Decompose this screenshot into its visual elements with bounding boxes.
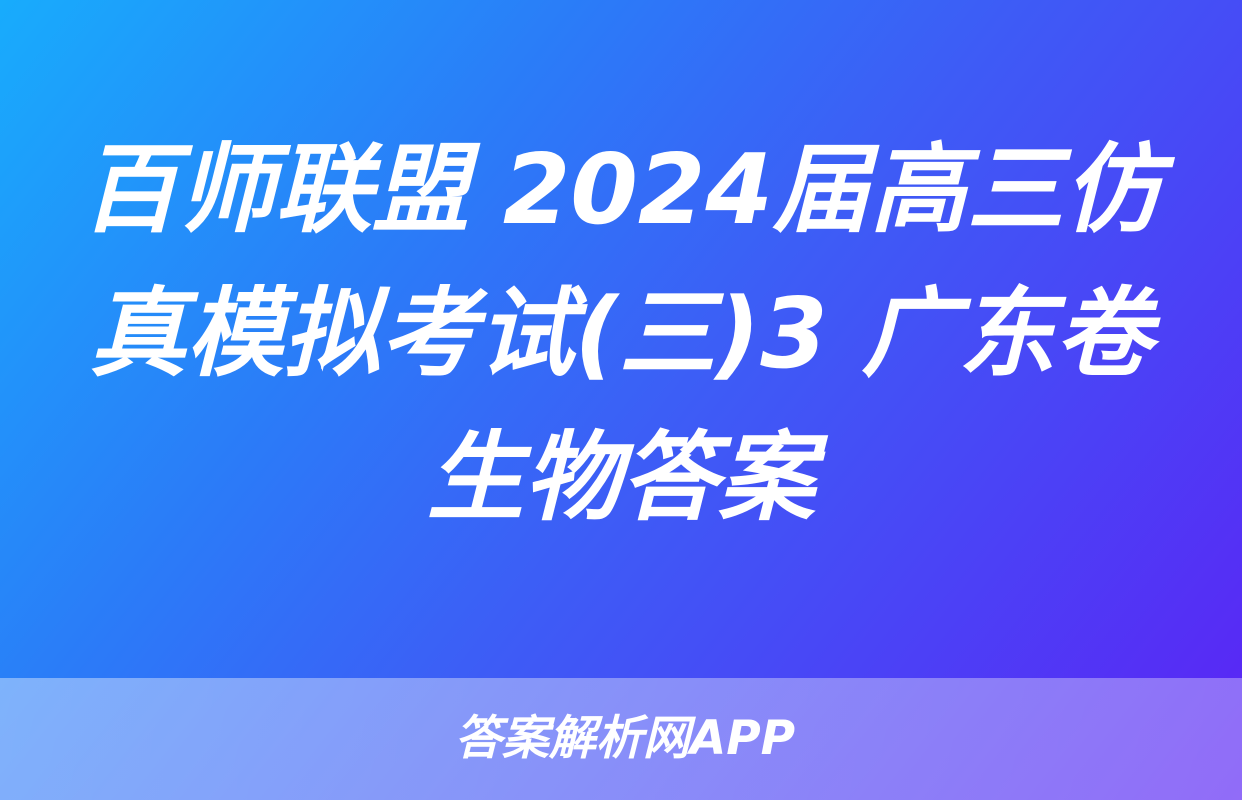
title-line-1: 百师联盟 2024届高三仿 xyxy=(71,118,1171,262)
title-line-3: 生物答案 xyxy=(71,406,1171,550)
title-line-2: 真模拟考试(三)3 广东卷 xyxy=(71,262,1171,406)
poster-card: 百师联盟 2024届高三仿 真模拟考试(三)3 广东卷 生物答案 答案解析网AP… xyxy=(0,0,1242,800)
title-block: 百师联盟 2024届高三仿 真模拟考试(三)3 广东卷 生物答案 xyxy=(0,0,1242,678)
watermark-band: 答案解析网APP xyxy=(0,678,1242,800)
watermark-app-label: 答案解析网APP xyxy=(455,711,795,767)
